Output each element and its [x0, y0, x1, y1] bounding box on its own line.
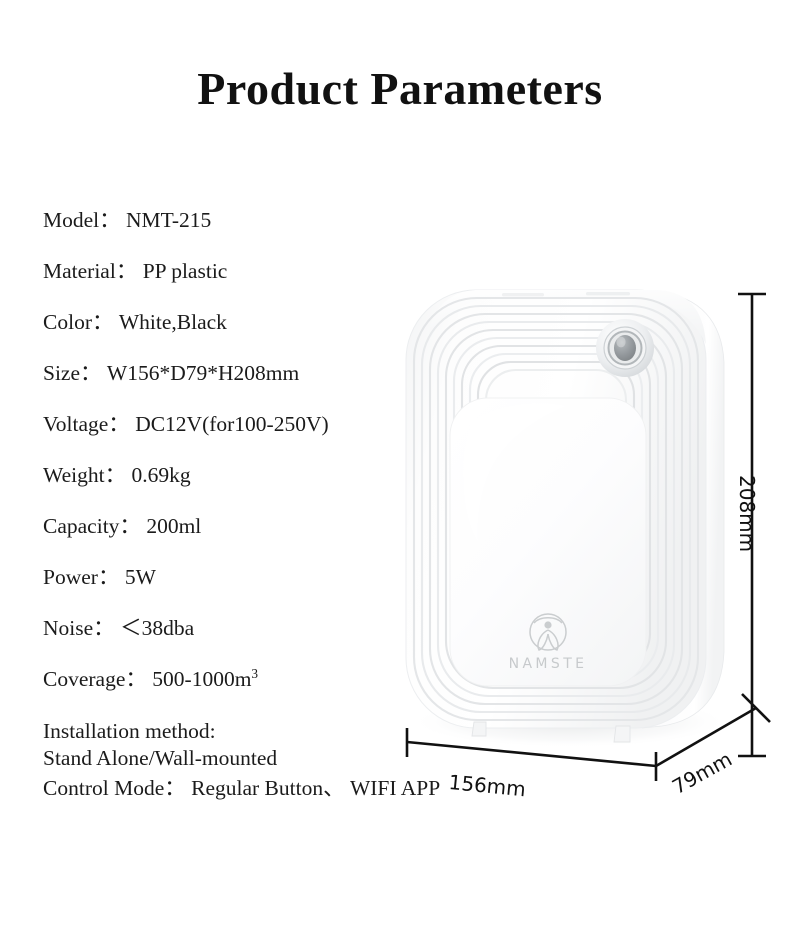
spec-row-power: Power： 5W: [43, 565, 443, 616]
dimension-label-height: 208mm: [735, 475, 759, 552]
spec-row-weight: Weight： 0.69kg: [43, 463, 443, 514]
dimension-tick-depth-right: [742, 694, 770, 722]
spec-value-color: White,Black: [119, 310, 227, 334]
spec-row-color: Color： White,Black: [43, 310, 443, 361]
top-vent-slot-right: [586, 292, 630, 295]
top-vent-slot-left: [502, 293, 544, 296]
device-foot-left: [472, 722, 486, 736]
spec-label-voltage: Voltage: [43, 412, 108, 436]
spec-label-capacity: Capacity: [43, 514, 119, 538]
device-foot-right: [614, 726, 630, 742]
spec-separator: ：: [125, 667, 147, 691]
spec-value-size: W156*D79*H208mm: [107, 361, 299, 385]
spec-separator: ：: [92, 310, 114, 334]
brand-logo-text: NAMSTE: [509, 656, 588, 672]
spec-row-voltage: Voltage： DC12V(for100-250V): [43, 412, 443, 463]
spec-label-material: Material: [43, 259, 116, 283]
power-button[interactable]: [596, 319, 654, 377]
spec-row-capacity: Capacity： 200ml: [43, 514, 443, 565]
spec-value-capacity: 200ml: [146, 514, 201, 538]
spec-label-noise: Noise: [43, 616, 93, 640]
spec-row-coverage: Coverage： 500-1000m3: [43, 667, 443, 718]
spec-value-power: 5W: [125, 565, 156, 589]
spec-label-power: Power: [43, 565, 98, 589]
spec-label-control-mode: Control Mode: [43, 776, 164, 800]
spec-row-installation-method: Installation method: Stand Alone/Wall-mo…: [43, 718, 443, 776]
spec-separator: ：: [99, 208, 121, 232]
spec-row-material: Material： PP plastic: [43, 259, 443, 310]
spec-value-voltage: DC12V(for100-250V): [135, 412, 328, 436]
spec-separator: ：: [116, 259, 138, 283]
spec-label-weight: Weight: [43, 463, 105, 487]
spec-value-model: NMT-215: [126, 208, 211, 232]
spec-row-noise: Noise： ＜38dba: [43, 616, 443, 667]
spec-label-model: Model: [43, 208, 99, 232]
spec-separator: :: [210, 719, 216, 743]
spec-label-coverage: Coverage: [43, 667, 125, 691]
spec-row-control-mode: Control Mode： Regular Button、 WIFI APP: [43, 776, 443, 827]
spec-row-model: Model： NMT-215: [43, 208, 443, 259]
spec-value-weight: 0.69kg: [131, 463, 190, 487]
spec-separator: ：: [80, 361, 102, 385]
spec-separator: ：: [93, 616, 115, 640]
spec-label-size: Size: [43, 361, 80, 385]
page-title: Product Parameters: [0, 62, 800, 115]
specification-list: Model： NMT-215 Material： PP plastic Colo…: [43, 208, 443, 827]
spec-value-coverage: 500-1000m: [152, 667, 251, 691]
spec-separator: ：: [164, 776, 186, 800]
spec-row-size: Size： W156*D79*H208mm: [43, 361, 443, 412]
spec-value-material: PP plastic: [143, 259, 228, 283]
spec-separator: ：: [119, 514, 141, 538]
spec-value-coverage-superscript: 3: [251, 666, 258, 681]
spec-value-noise: ＜38dba: [120, 616, 194, 640]
spec-label-color: Color: [43, 310, 92, 334]
spec-separator: ：: [98, 565, 120, 589]
spec-label-installation-method: Installation method: [43, 719, 210, 743]
spec-value-installation-method: Stand Alone/Wall-mounted: [43, 745, 443, 772]
product-figure: NAMSTE 208mm 156mm 79mm: [390, 270, 800, 850]
spec-separator: ：: [105, 463, 127, 487]
product-illustration: NAMSTE: [390, 270, 800, 850]
spec-separator: ：: [108, 412, 130, 436]
